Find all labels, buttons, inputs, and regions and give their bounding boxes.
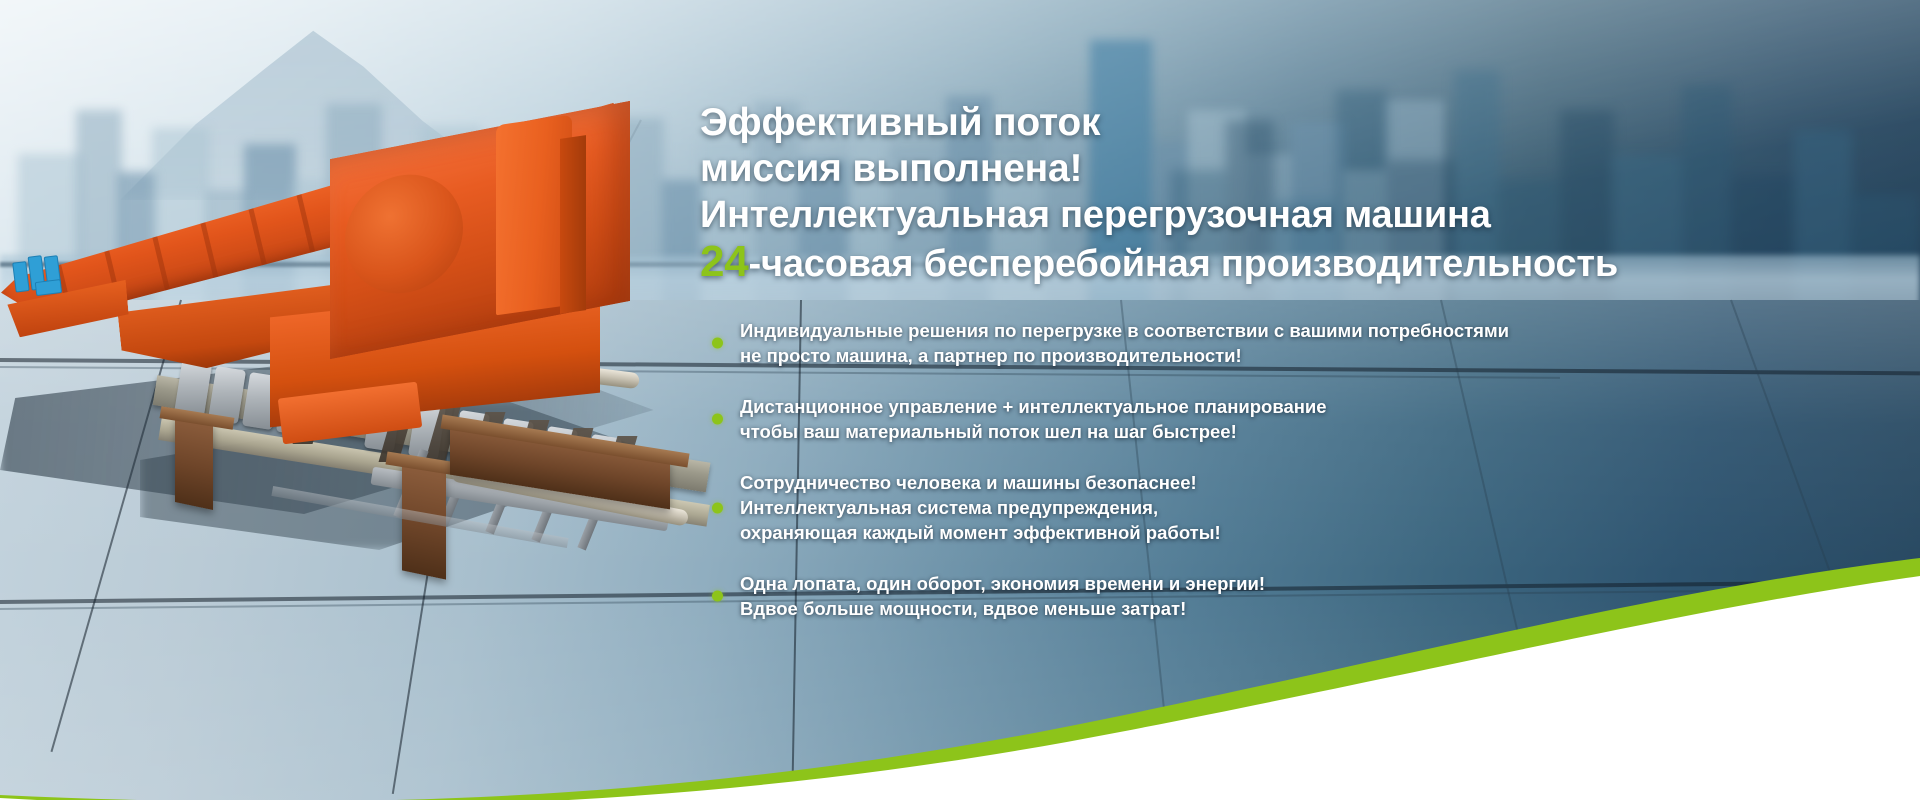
headline-line-4-rest: -часовая бесперебойная производительност… bbox=[749, 243, 1618, 285]
bullet-dot-icon bbox=[712, 591, 723, 602]
headline-line-4: 24-часовая бесперебойная производительно… bbox=[700, 238, 1910, 288]
bullet-3-line-1: Сотрудничество человека и машины безопас… bbox=[740, 470, 1910, 495]
orange-transfer-machine bbox=[0, 0, 760, 560]
bullet-4-line-1: Одна лопата, один оборот, экономия време… bbox=[740, 571, 1910, 596]
bullet-1-line-1: Индивидуальные решения по перегрузке в с… bbox=[740, 318, 1910, 343]
machine-fin-panel-edge bbox=[560, 135, 586, 314]
bullet-dot-icon bbox=[712, 414, 723, 425]
list-item: Сотрудничество человека и машины безопас… bbox=[700, 470, 1910, 545]
blue-end-module bbox=[12, 252, 77, 301]
hero-banner: Эффективный поток миссия выполнена! Инте… bbox=[0, 0, 1920, 800]
bullet-4-line-2: Вдвое больше мощности, вдвое меньше затр… bbox=[740, 596, 1910, 621]
list-item: Индивидуальные решения по перегрузке в с… bbox=[700, 318, 1910, 368]
copy-block: Эффективный поток миссия выполнена! Инте… bbox=[700, 100, 1910, 647]
headline-line-2: миссия выполнена! bbox=[700, 146, 1910, 192]
bullet-2-line-1: Дистанционное управление + интеллектуаль… bbox=[740, 394, 1910, 419]
headline-group: Эффективный поток миссия выполнена! Инте… bbox=[700, 100, 1910, 288]
bullet-1-line-2: не просто машина, а партнер по производи… bbox=[740, 343, 1910, 368]
highlight-24: 24 bbox=[700, 237, 749, 286]
bullet-dot-icon bbox=[712, 338, 723, 349]
bullet-3-line-3: охраняющая каждый момент эффективной раб… bbox=[740, 520, 1910, 545]
bullet-2-line-2: чтобы ваш материальный поток шел на шаг … bbox=[740, 419, 1910, 444]
headline-line-1: Эффективный поток bbox=[700, 100, 1910, 146]
bullet-3-line-2: Интеллектуальная система предупреждения, bbox=[740, 495, 1910, 520]
bullet-list: Индивидуальные решения по перегрузке в с… bbox=[700, 318, 1910, 621]
headline-line-3: Интеллектуальная перегрузочная машина bbox=[700, 192, 1910, 238]
list-item: Дистанционное управление + интеллектуаль… bbox=[700, 394, 1910, 444]
bullet-dot-icon bbox=[712, 502, 723, 513]
list-item: Одна лопата, один оборот, экономия време… bbox=[700, 571, 1910, 621]
